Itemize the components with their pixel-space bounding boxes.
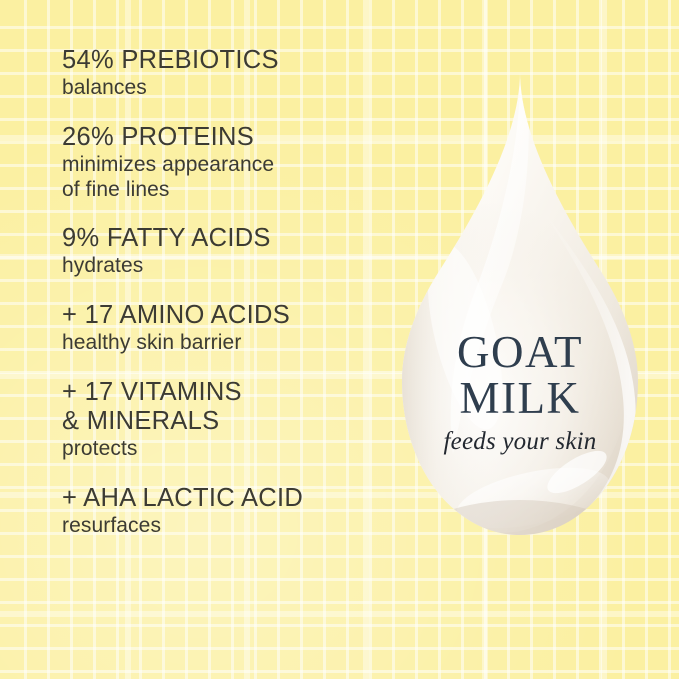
ingredient-description: minimizes appearance of fine lines	[62, 153, 382, 203]
ingredient-title: 54% PREBIOTICS	[62, 46, 382, 75]
ingredient-description: hydrates	[62, 254, 382, 279]
ingredient-item-fatty-acids: 9% FATTY ACIDS hydrates	[62, 224, 382, 279]
ingredient-description: healthy skin barrier	[62, 331, 382, 356]
ingredient-item-proteins: 26% PROTEINS minimizes appearance of fin…	[62, 123, 382, 203]
milk-droplet: GOAT MILK feeds your skin	[391, 68, 649, 546]
milk-droplet-icon	[391, 68, 649, 546]
ingredient-item-prebiotics: 54% PREBIOTICS balances	[62, 46, 382, 101]
ingredient-description: balances	[62, 76, 382, 101]
ingredient-item-vitamins-minerals: + 17 VITAMINS & MINERALS protects	[62, 378, 382, 462]
ingredient-description: protects	[62, 437, 382, 462]
ingredient-list: 54% PREBIOTICS balances 26% PROTEINS min…	[62, 46, 382, 539]
droplet-bottom-shadow	[391, 500, 649, 546]
goat-milk-ingredient-poster: 54% PREBIOTICS balances 26% PROTEINS min…	[0, 0, 679, 679]
ingredient-title: + 17 VITAMINS & MINERALS	[62, 378, 382, 436]
ingredient-title: + AHA LACTIC ACID	[62, 484, 382, 513]
ingredient-title: + 17 AMINO ACIDS	[62, 301, 382, 330]
ingredient-description: resurfaces	[62, 514, 382, 539]
ingredient-title: 9% FATTY ACIDS	[62, 224, 382, 253]
ingredient-item-aha-lactic-acid: + AHA LACTIC ACID resurfaces	[62, 484, 382, 539]
ingredient-title: 26% PROTEINS	[62, 123, 382, 152]
ingredient-item-amino-acids: + 17 AMINO ACIDS healthy skin barrier	[62, 301, 382, 356]
